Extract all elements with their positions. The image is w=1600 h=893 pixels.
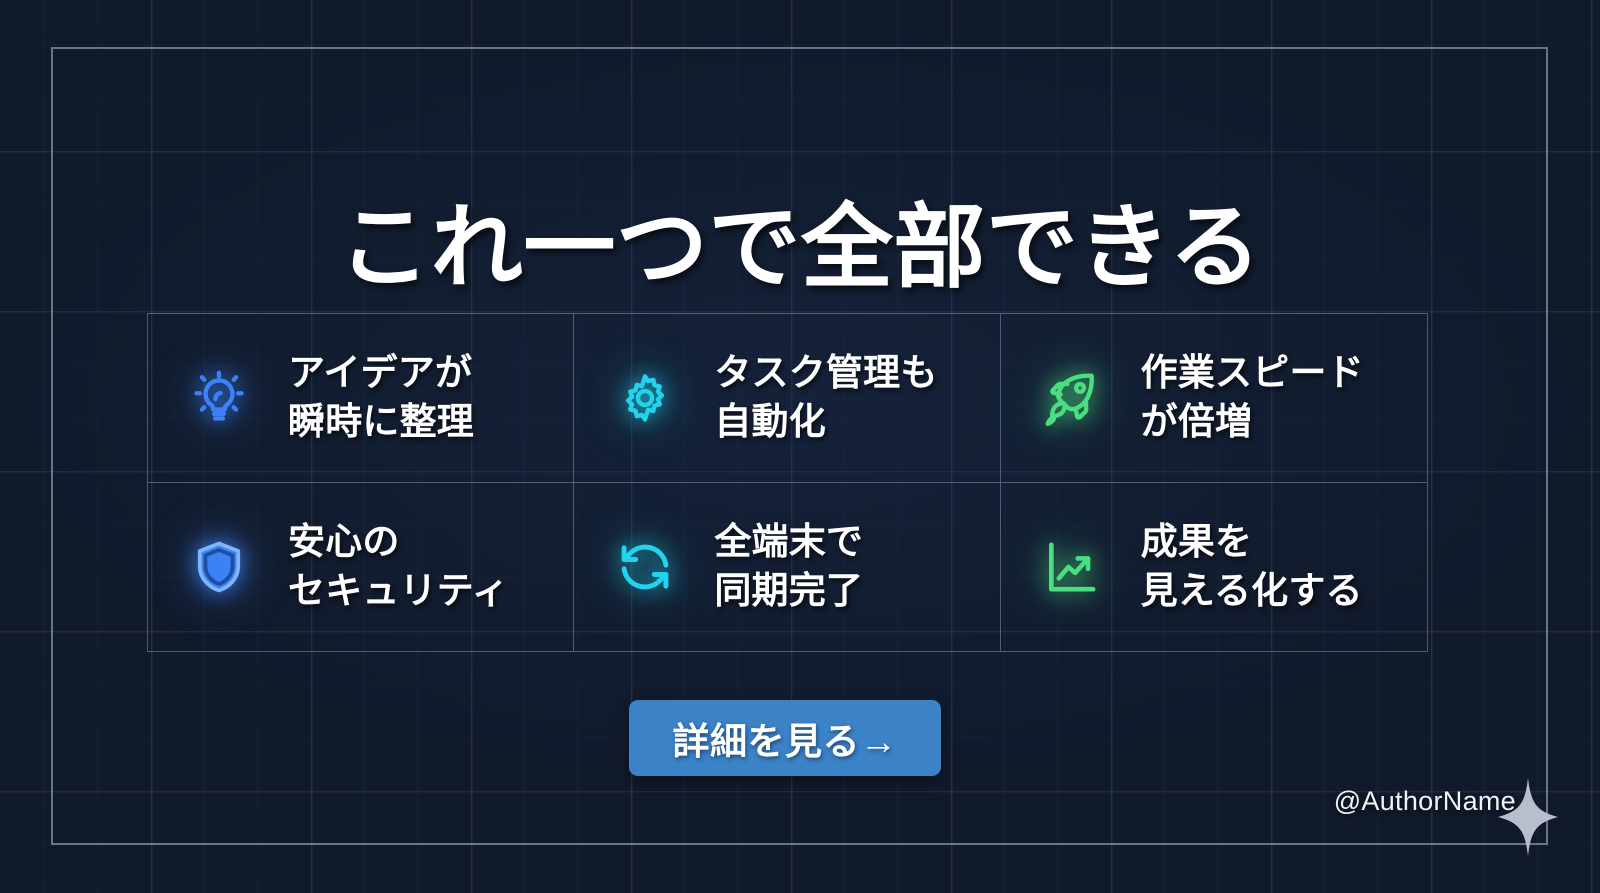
feature-text-3: 作業スピード が倍増 bbox=[1141, 349, 1364, 447]
feature-line2: 瞬時に整理 bbox=[288, 398, 474, 447]
page-title: これ一つで全部できる bbox=[0, 200, 1600, 297]
lightbulb-icon bbox=[176, 355, 262, 441]
rocket-icon bbox=[1029, 355, 1115, 441]
feature-line1: 成果を bbox=[1141, 521, 1253, 562]
feature-line1: 全端末で bbox=[714, 521, 863, 562]
shield-icon bbox=[176, 524, 262, 610]
feature-text-4: 安心の セキュリティ bbox=[288, 518, 509, 616]
feature-cell-1: アイデアが 瞬時に整理 bbox=[148, 314, 574, 483]
feature-grid: アイデアが 瞬時に整理 タスク管理も 自動化 bbox=[147, 313, 1428, 652]
feature-cell-5: 全端末で 同期完了 bbox=[574, 483, 1000, 652]
feature-cell-4: 安心の セキュリティ bbox=[148, 483, 574, 652]
feature-text-2: タスク管理も 自動化 bbox=[714, 349, 937, 447]
feature-line1: 作業スピード bbox=[1141, 352, 1364, 393]
feature-cell-2: タスク管理も 自動化 bbox=[574, 314, 1000, 483]
chart-line-up-icon bbox=[1029, 524, 1115, 610]
slide-canvas: これ一つで全部できる アイデアが bbox=[0, 0, 1600, 893]
feature-line2: セキュリティ bbox=[288, 567, 509, 616]
feature-line1: 安心の bbox=[288, 521, 400, 562]
cta-button[interactable]: 詳細を見る→ bbox=[629, 700, 941, 776]
four-point-star-icon bbox=[1498, 778, 1558, 856]
feature-line2: が倍増 bbox=[1141, 398, 1364, 447]
feature-cell-6: 成果を 見える化する bbox=[1001, 483, 1427, 652]
feature-line2: 見える化する bbox=[1141, 567, 1363, 616]
author-handle: @AuthorName bbox=[1334, 786, 1516, 817]
feature-line1: タスク管理も bbox=[714, 352, 937, 393]
feature-text-6: 成果を 見える化する bbox=[1141, 518, 1363, 616]
feature-cell-3: 作業スピード が倍増 bbox=[1001, 314, 1427, 483]
feature-text-1: アイデアが 瞬時に整理 bbox=[288, 349, 474, 447]
sync-icon bbox=[602, 524, 688, 610]
feature-text-5: 全端末で 同期完了 bbox=[714, 518, 863, 616]
feature-line2: 自動化 bbox=[714, 398, 937, 447]
feature-line1: アイデアが bbox=[288, 352, 472, 393]
gear-icon bbox=[602, 355, 688, 441]
feature-line2: 同期完了 bbox=[714, 567, 863, 616]
